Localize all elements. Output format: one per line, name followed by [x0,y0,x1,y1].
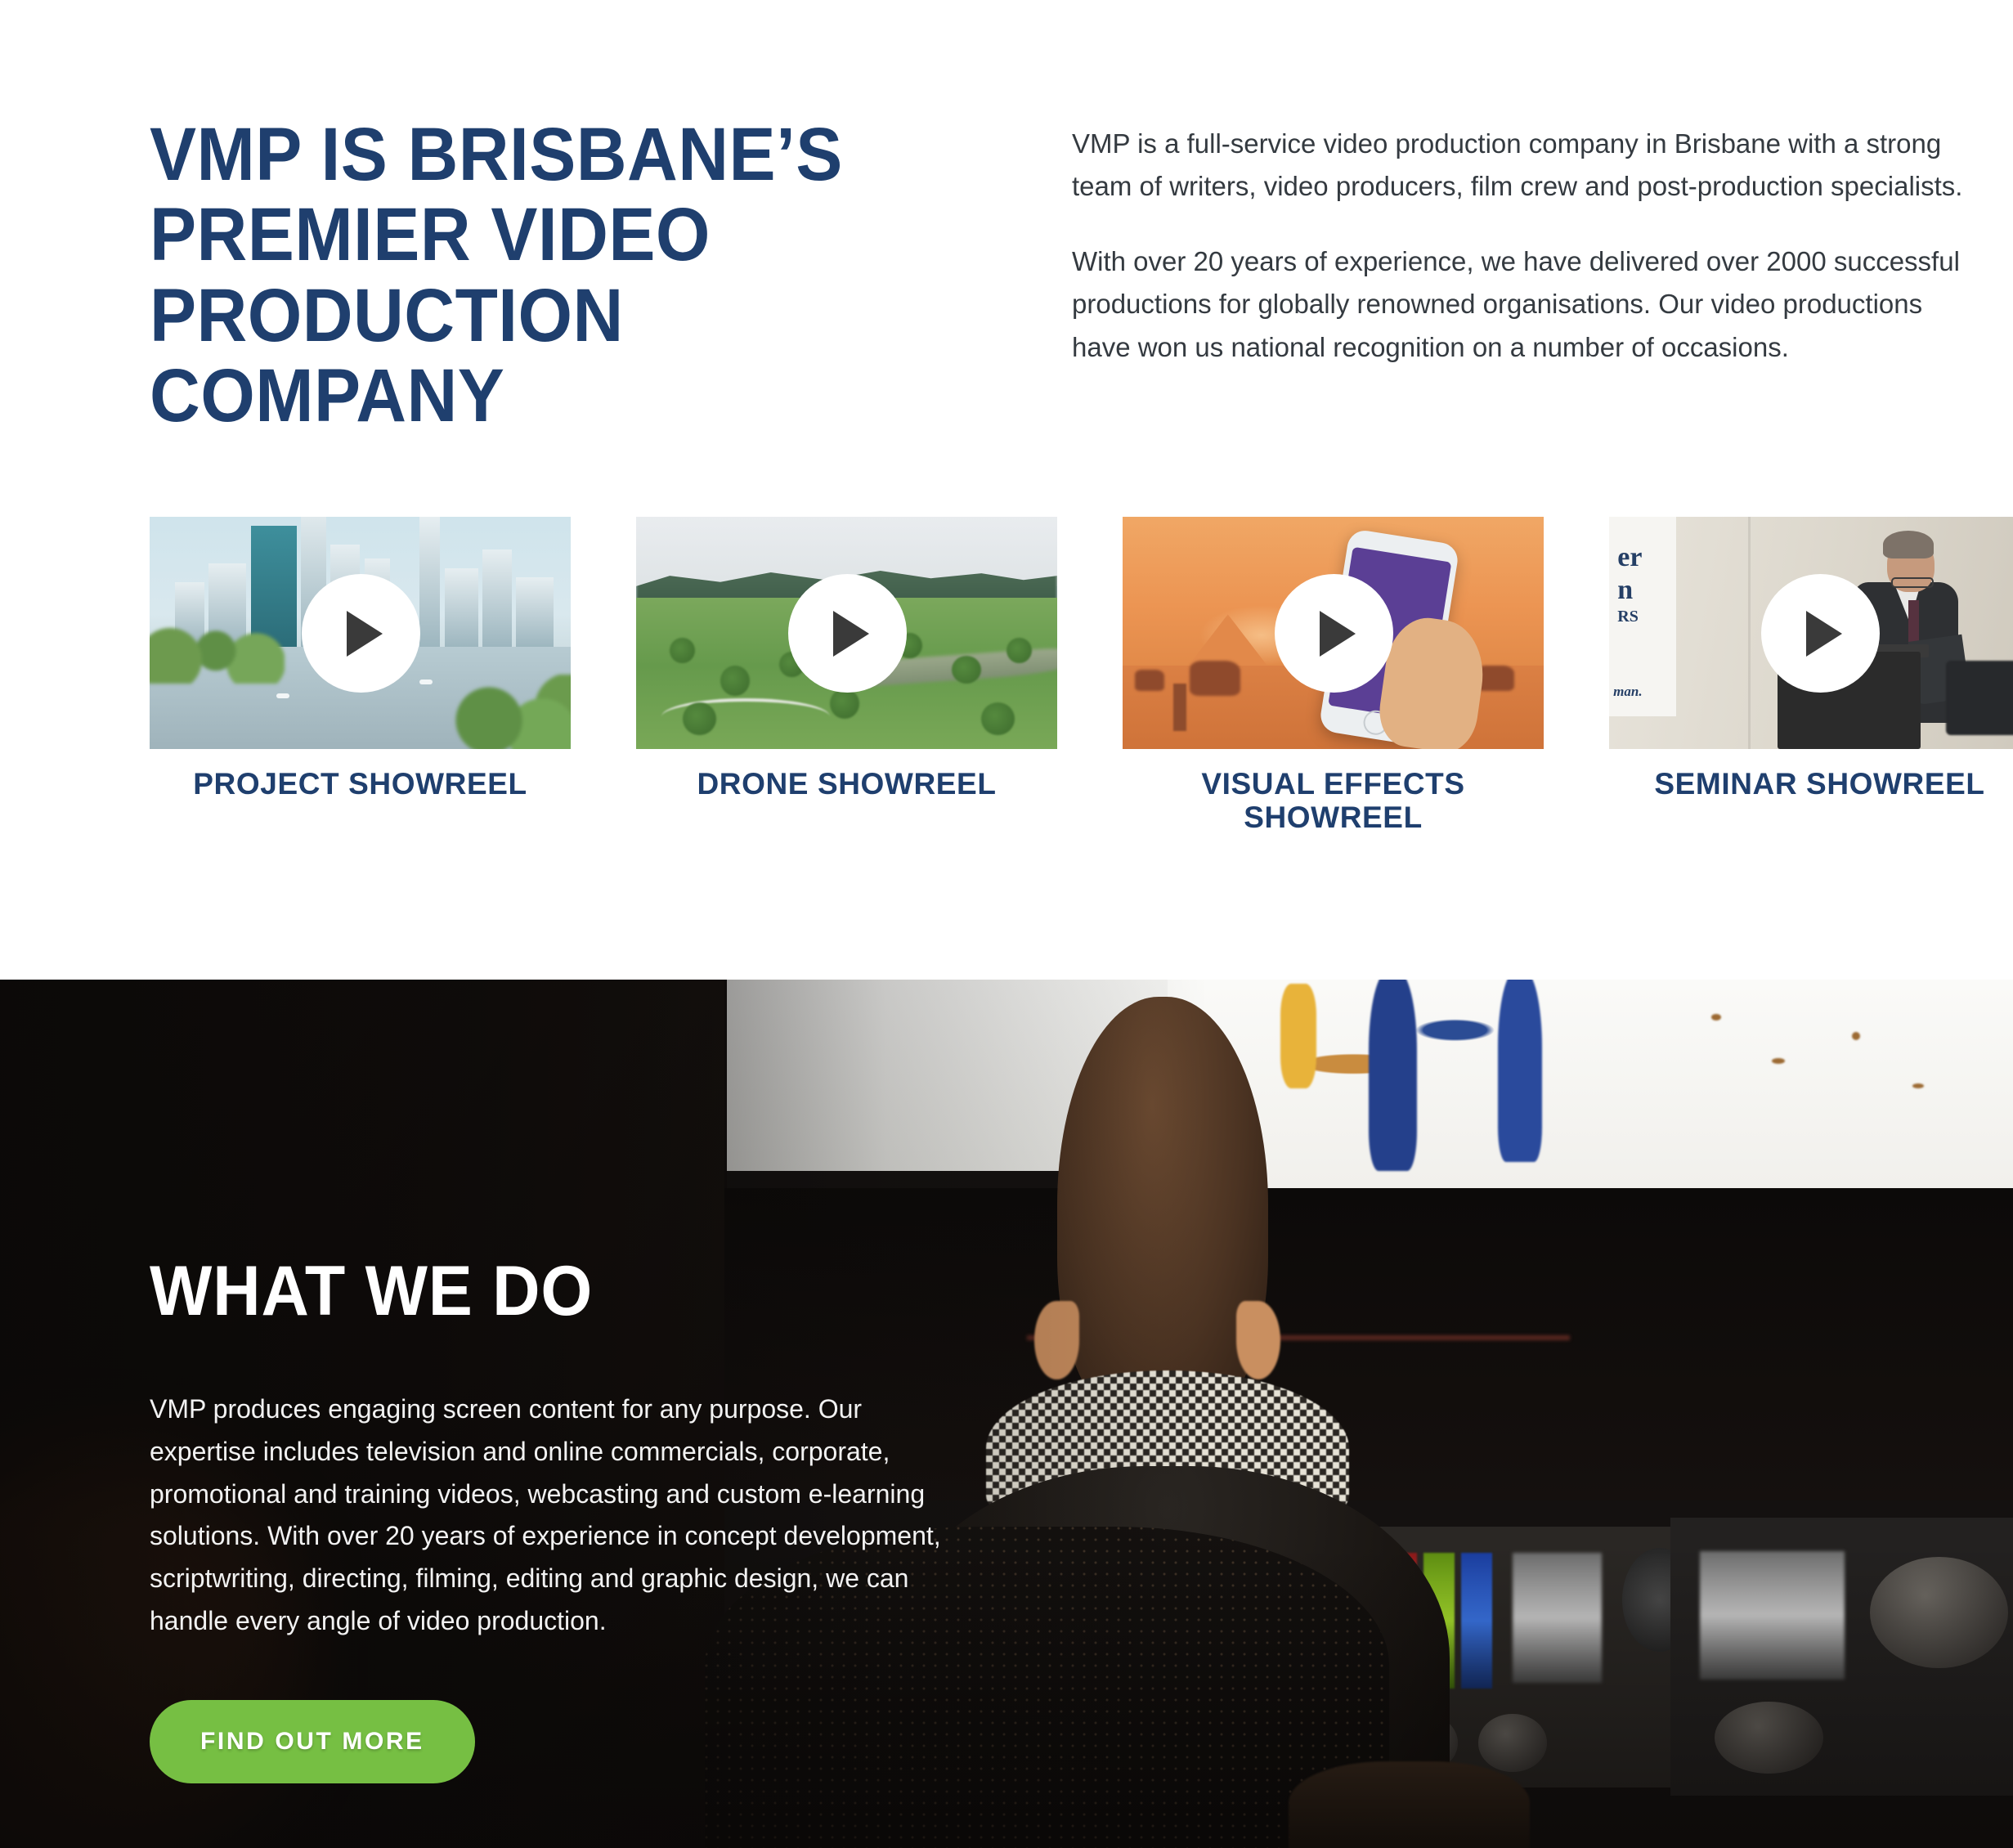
play-icon[interactable] [1275,574,1393,693]
what-we-do-section: WHAT WE DO VMP produces engaging screen … [0,980,2013,1848]
showreel-card-visual-effects[interactable]: VISUAL EFFECTS SHOWREEL [1123,517,1544,860]
showreel-label: SEMINAR SHOWREEL [1609,767,2013,801]
showreel-label: VISUAL EFFECTS SHOWREEL [1123,767,1544,835]
showreel-label: DRONE SHOWREEL [636,767,1057,801]
showreel-card-seminar[interactable]: er n RS man. [1609,517,2013,860]
showreel-card-list: PROJECT SHOWREEL [150,517,1883,860]
what-we-do-content: WHAT WE DO VMP produces engaging screen … [150,1256,1016,1783]
what-we-do-title: WHAT WE DO [150,1256,964,1326]
play-icon[interactable] [302,574,420,693]
showreel-thumbnail-seminar[interactable]: er n RS man. [1609,517,2013,749]
banner-text-line3: RS [1617,608,1639,626]
what-we-do-body: VMP produces engaging screen content for… [150,1388,967,1643]
intro-paragraph-2: With over 20 years of experience, we hav… [1072,240,1963,368]
play-icon[interactable] [788,574,907,693]
banner-text-line2: n [1617,575,1633,606]
page-root: VMP IS BRISBANE’S PREMIER VIDEO PRODUCTI… [0,0,2013,1848]
play-icon[interactable] [1761,574,1880,693]
intro-paragraph-1: VMP is a full-service video production c… [1072,123,1963,208]
play-triangle-icon [1320,611,1356,657]
showreel-thumbnail-drone[interactable] [636,517,1057,749]
showreel-label: PROJECT SHOWREEL [150,767,571,801]
banner-text-script: man. [1613,684,1642,700]
intro-copy: VMP is a full-service video production c… [1072,123,1963,369]
showreel-card-drone[interactable]: DRONE SHOWREEL [636,517,1057,860]
banner-text-line1: er [1617,542,1642,573]
showreel-thumbnail-visual-effects[interactable] [1123,517,1544,749]
showreel-thumbnail-project[interactable] [150,517,571,749]
page-title: VMP IS BRISBANE’S PREMIER VIDEO PRODUCTI… [150,114,926,437]
play-triangle-icon [833,611,869,657]
intro-section: VMP IS BRISBANE’S PREMIER VIDEO PRODUCTI… [0,0,2013,980]
find-out-more-button[interactable]: FIND OUT MORE [150,1700,475,1783]
play-triangle-icon [1806,611,1842,657]
play-triangle-icon [347,611,383,657]
showreel-card-project[interactable]: PROJECT SHOWREEL [150,517,571,860]
